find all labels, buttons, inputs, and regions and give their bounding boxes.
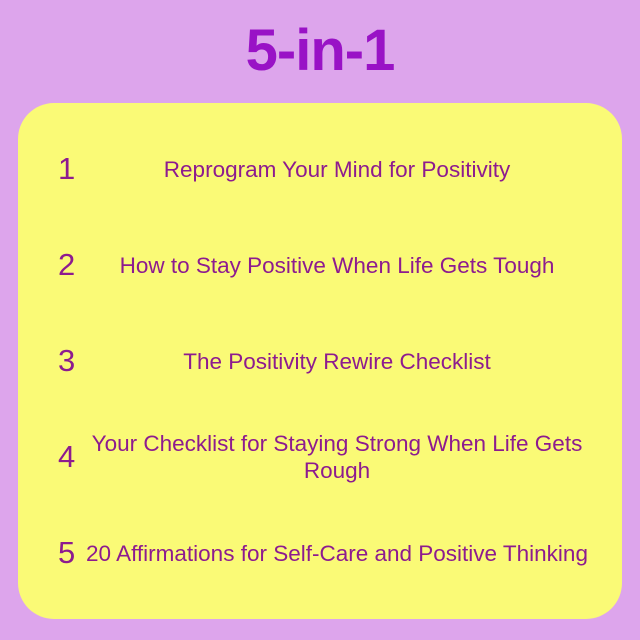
list-item: 2 How to Stay Positive When Life Gets To… [32,237,608,293]
list-item-number: 4 [32,440,78,474]
bundle-list-card: 1 Reprogram Your Mind for Positivity 2 H… [18,103,622,619]
list-item-title: Reprogram Your Mind for Positivity [78,156,608,183]
list-item: 4 Your Checklist for Staying Strong When… [32,429,608,485]
list-item-title: The Positivity Rewire Checklist [78,348,608,375]
list-item-number: 1 [32,152,78,186]
list-item: 3 The Positivity Rewire Checklist [32,333,608,389]
poster-canvas: 5-in-1 1 Reprogram Your Mind for Positiv… [0,0,640,640]
page-title: 5-in-1 [0,16,640,86]
list-item-title: Your Checklist for Staying Strong When L… [78,430,608,484]
list-item: 1 Reprogram Your Mind for Positivity [32,141,608,197]
list-item-number: 5 [32,536,78,570]
list-item-number: 2 [32,248,78,282]
list-item-number: 3 [32,344,78,378]
list-item: 5 20 Affirmations for Self-Care and Posi… [32,525,608,581]
list-item-title: How to Stay Positive When Life Gets Toug… [78,252,608,279]
list-item-title: 20 Affirmations for Self-Care and Positi… [78,540,608,567]
